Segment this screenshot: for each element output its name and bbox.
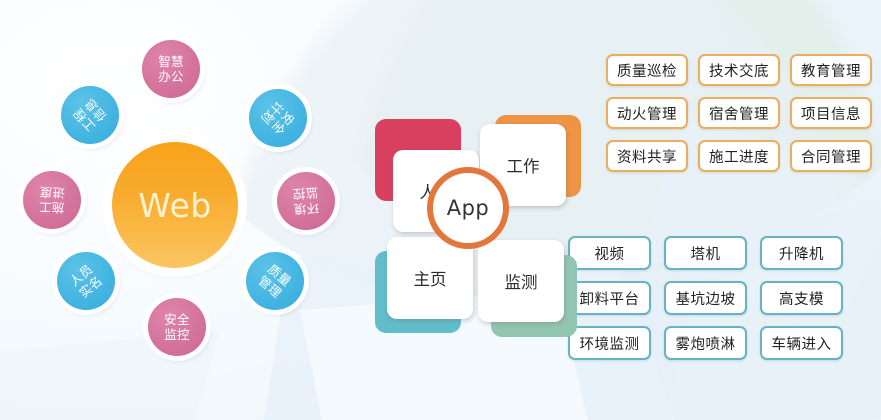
module-chip[interactable]: 环境监测 xyxy=(568,326,651,360)
web-bubble-label: 安全 计划 xyxy=(258,98,297,137)
app-card[interactable]: 监测 xyxy=(478,240,564,322)
module-chip[interactable]: 项目信息 xyxy=(790,97,872,129)
module-chip[interactable]: 动火管理 xyxy=(606,97,688,129)
module-chip-label: 动火管理 xyxy=(617,103,677,124)
web-bubble[interactable]: 安全 计划 xyxy=(249,89,307,147)
module-chip-label: 教育管理 xyxy=(801,60,861,81)
module-chip[interactable]: 宿舍管理 xyxy=(698,97,780,129)
app-center-label: App xyxy=(447,196,490,220)
module-chip[interactable]: 资料共享 xyxy=(606,140,688,172)
app-card-label: 主页 xyxy=(414,266,447,290)
web-bubble[interactable]: 工程 信息 xyxy=(61,86,119,144)
web-bubble[interactable]: 质量 管理 xyxy=(246,252,304,310)
module-chip[interactable]: 教育管理 xyxy=(790,54,872,86)
module-chip-label: 项目信息 xyxy=(801,103,861,124)
web-bubble-label: 安全 监控 xyxy=(164,312,190,342)
module-chip-label: 环境监测 xyxy=(580,333,640,354)
module-chip[interactable]: 合同管理 xyxy=(790,140,872,172)
web-cluster: Web 智慧 办公工程 信息安全 计划施工 进度环境 监控人员 实名质量 管理安… xyxy=(0,0,350,420)
module-chip-label: 技术交底 xyxy=(709,60,769,81)
web-bubble[interactable]: 施工 进度 xyxy=(23,171,81,229)
module-chip-label: 升降机 xyxy=(779,243,824,264)
web-bubble-label: 施工 进度 xyxy=(39,185,66,216)
module-chip[interactable]: 质量巡检 xyxy=(606,54,688,86)
web-bubble-label: 工程 信息 xyxy=(70,95,109,134)
module-chip[interactable]: 塔机 xyxy=(664,236,747,270)
module-chip-label: 雾炮喷淋 xyxy=(676,333,736,354)
infographic-canvas: Web 智慧 办公工程 信息安全 计划施工 进度环境 监控人员 实名质量 管理安… xyxy=(0,0,881,420)
web-bubble[interactable]: 智慧 办公 xyxy=(142,40,200,98)
app-card-label: 监测 xyxy=(505,269,538,293)
module-chip-label: 合同管理 xyxy=(801,146,861,167)
module-chip-label: 质量巡检 xyxy=(617,60,677,81)
module-chip-label: 卸料平台 xyxy=(580,288,640,309)
web-bubble[interactable]: 环境 监控 xyxy=(277,172,335,230)
app-card[interactable]: 主页 xyxy=(387,237,473,319)
module-chip-label: 施工进度 xyxy=(709,146,769,167)
web-bubble[interactable]: 人员 实名 xyxy=(57,252,115,310)
module-chip[interactable]: 视频 xyxy=(568,236,651,270)
module-chip-label: 车辆进入 xyxy=(772,333,832,354)
web-center-label: Web xyxy=(138,186,211,225)
module-chip-label: 塔机 xyxy=(691,243,721,264)
web-bubble[interactable]: 安全 监控 xyxy=(148,298,206,356)
teal-module-grid: 视频塔机升降机卸料平台基坑边坡高支模环境监测雾炮喷淋车辆进入 xyxy=(568,236,843,360)
web-bubble-label: 智慧 办公 xyxy=(158,54,184,84)
module-chip-label: 宿舍管理 xyxy=(709,103,769,124)
web-center-circle[interactable]: Web xyxy=(112,142,238,268)
app-center-ring[interactable]: App xyxy=(427,167,509,249)
orange-module-grid: 质量巡检技术交底教育管理动火管理宿舍管理项目信息资料共享施工进度合同管理 xyxy=(606,54,872,172)
module-chip-label: 资料共享 xyxy=(617,146,677,167)
module-chip[interactable]: 高支模 xyxy=(760,281,843,315)
module-chip-label: 视频 xyxy=(595,243,625,264)
module-chip[interactable]: 车辆进入 xyxy=(760,326,843,360)
module-chip[interactable]: 升降机 xyxy=(760,236,843,270)
module-chip[interactable]: 技术交底 xyxy=(698,54,780,86)
module-chip-label: 基坑边坡 xyxy=(676,288,736,309)
module-chip[interactable]: 施工进度 xyxy=(698,140,780,172)
module-chip-label: 高支模 xyxy=(779,288,824,309)
module-chip[interactable]: 雾炮喷淋 xyxy=(664,326,747,360)
app-cluster: 人员工作主页监测 App xyxy=(365,105,565,305)
web-bubble-label: 质量 管理 xyxy=(256,261,295,300)
module-chip[interactable]: 基坑边坡 xyxy=(664,281,747,315)
web-bubble-label: 环境 监控 xyxy=(292,185,320,217)
web-bubble-label: 人员 实名 xyxy=(67,261,106,300)
module-chip[interactable]: 卸料平台 xyxy=(568,281,651,315)
app-card-label: 工作 xyxy=(507,153,540,177)
